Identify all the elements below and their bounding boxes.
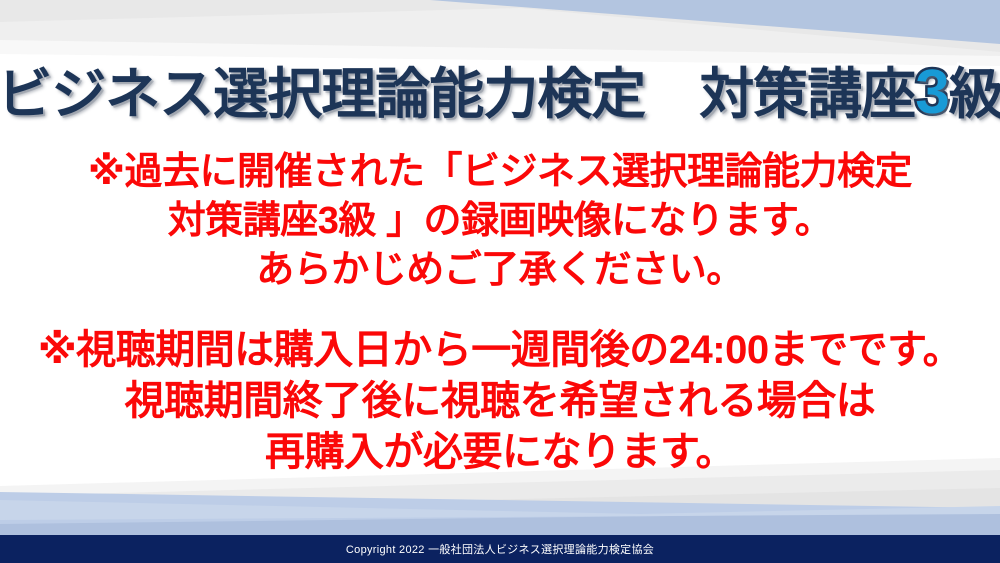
title-block: ビジネス選択理論能力検定 対策講座3級: [0, 52, 1000, 134]
notice-line: 対策講座3級 」の録画映像になります。: [0, 197, 1000, 246]
copyright-text: Copyright 2022 一般社団法人ビジネス選択理論能力検定協会: [346, 541, 654, 557]
slide-canvas: ビジネス選択理論能力検定 対策講座3級 ※過去に開催された「ビジネス選択理論能力…: [0, 0, 1000, 563]
notice-paragraph-recording: ※過去に開催された「ビジネス選択理論能力検定 対策講座3級 」の録画映像になりま…: [0, 148, 1000, 295]
notice-paragraph-viewing-period: ※視聴期間は購入日から一週間後の24:00までです。 視聴期間終了後に視聴を希望…: [0, 325, 1000, 478]
notice-line: ※過去に開催された「ビジネス選択理論能力検定: [0, 148, 1000, 197]
bottom-blue-band-dark: [0, 512, 1000, 535]
top-gray-wedge: [0, 0, 1000, 58]
bottom-gray-sweep-3: [130, 488, 1000, 518]
notice-line: ※視聴期間は購入日から一週間後の24:00までです。: [0, 325, 1000, 376]
page-title-grade-suffix: 級: [949, 63, 1000, 125]
notice-line: 視聴期間終了後に視聴を希望される場合は: [0, 376, 1000, 427]
page-title-main: ビジネス選択理論能力検定 対策講座: [0, 63, 915, 125]
notice-line: 再購入が必要になります。: [0, 427, 1000, 478]
page-title-grade-number: 3: [915, 58, 948, 127]
paragraph-spacer: [0, 295, 1000, 325]
page-title: ビジネス選択理論能力検定 対策講座3級: [0, 62, 1000, 124]
footer-bar: Copyright 2022 一般社団法人ビジネス選択理論能力検定協会: [0, 535, 1000, 563]
top-blue-band: [0, 0, 1000, 46]
body-copy: ※過去に開催された「ビジネス選択理論能力検定 対策講座3級 」の録画映像になりま…: [0, 148, 1000, 478]
bottom-blue-band-light: [0, 500, 1000, 520]
notice-line: あらかじめご了承ください。: [0, 246, 1000, 295]
bottom-blue-band: [0, 492, 1000, 535]
